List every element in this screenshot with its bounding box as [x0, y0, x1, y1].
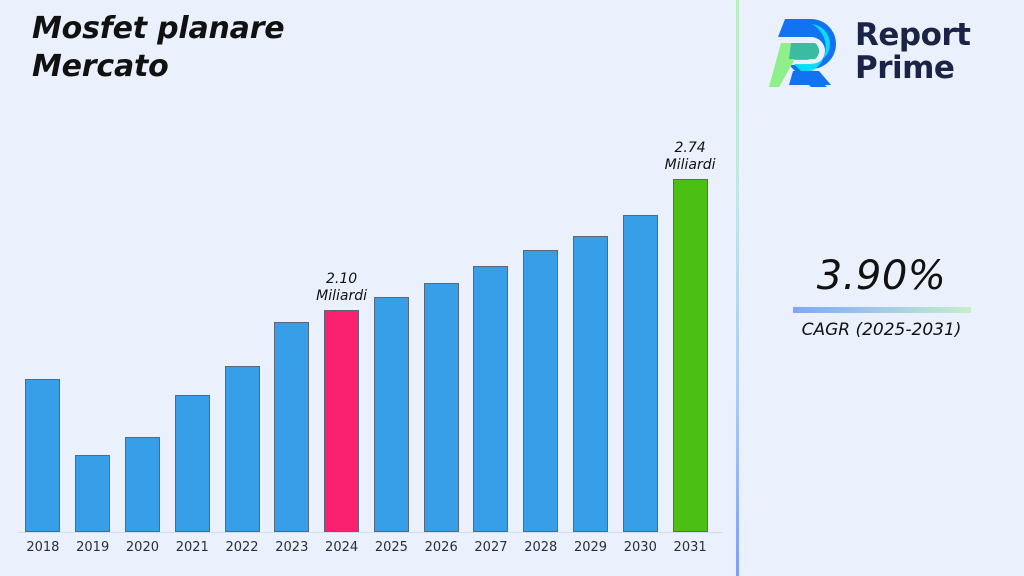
bar-2029[interactable]	[573, 120, 608, 532]
screenshot-root: Mosfet planare Mercato 2.10 Miliardi2.74…	[0, 0, 1024, 576]
bar-rect-2019	[75, 455, 110, 532]
bar-2027[interactable]	[473, 120, 508, 532]
bar-2026[interactable]	[424, 120, 459, 532]
bar-rect-2029	[573, 236, 608, 532]
chart-title: Mosfet planare Mercato	[32, 10, 462, 86]
cagr-divider-rule	[793, 307, 971, 313]
bar-2028[interactable]	[523, 120, 558, 532]
bar-value-label-2031: 2.74 Miliardi	[635, 140, 745, 174]
bar-2024[interactable]: 2.10 Miliardi	[324, 120, 359, 532]
x-tick-2029: 2029	[574, 540, 607, 555]
cagr-value: 3.90%	[739, 252, 1024, 300]
chart-panel: Mosfet planare Mercato 2.10 Miliardi2.74…	[0, 0, 737, 576]
bar-rect-2030	[623, 215, 658, 532]
bar-rect-2022	[225, 366, 260, 532]
x-tick-2020: 2020	[126, 540, 159, 555]
bar-2019[interactable]	[75, 120, 110, 532]
bar-2025[interactable]	[374, 120, 409, 532]
bar-2023[interactable]	[274, 120, 309, 532]
bar-rect-2028	[523, 250, 558, 532]
x-tick-2025: 2025	[375, 540, 408, 555]
report-prime-logo-mark-icon	[767, 13, 845, 91]
x-tick-2024: 2024	[325, 540, 358, 555]
x-tick-2026: 2026	[425, 540, 458, 555]
bar-2018[interactable]	[25, 120, 60, 532]
x-tick-2028: 2028	[524, 540, 557, 555]
x-axis-tick-labels: 2018201920202021202220232024202520262027…	[10, 540, 723, 564]
bar-2031[interactable]: 2.74 Miliardi	[673, 120, 708, 532]
x-tick-2023: 2023	[275, 540, 308, 555]
x-tick-2019: 2019	[76, 540, 109, 555]
bar-rect-2027	[473, 266, 508, 532]
right-panel: Report Prime 3.90% CAGR (2025-2031)	[739, 0, 1024, 576]
x-tick-2021: 2021	[176, 540, 209, 555]
bar-rect-2018	[25, 379, 60, 532]
bar-2030[interactable]	[623, 120, 658, 532]
bar-2021[interactable]	[175, 120, 210, 532]
bar-rect-2026	[424, 283, 459, 532]
bar-rect-2031	[673, 179, 708, 532]
cagr-block: 3.90% CAGR (2025-2031)	[739, 252, 1024, 341]
report-prime-logo-text: Report Prime	[855, 19, 971, 85]
report-prime-logo: Report Prime	[767, 12, 1007, 92]
x-axis-line	[18, 532, 723, 533]
bar-rect-2023	[274, 322, 309, 532]
cagr-caption: CAGR (2025-2031)	[739, 319, 1024, 341]
x-tick-2030: 2030	[624, 540, 657, 555]
bar-rect-2020	[125, 437, 160, 532]
x-tick-2018: 2018	[26, 540, 59, 555]
x-tick-2031: 2031	[674, 540, 707, 555]
bar-rect-2024	[324, 310, 359, 532]
x-tick-2022: 2022	[225, 540, 258, 555]
bar-rect-2025	[374, 297, 409, 532]
bar-rect-2021	[175, 395, 210, 532]
bar-chart-plot-area: 2.10 Miliardi2.74 Miliardi	[10, 120, 723, 533]
bar-2020[interactable]	[125, 120, 160, 532]
x-tick-2027: 2027	[474, 540, 507, 555]
bar-2022[interactable]	[225, 120, 260, 532]
